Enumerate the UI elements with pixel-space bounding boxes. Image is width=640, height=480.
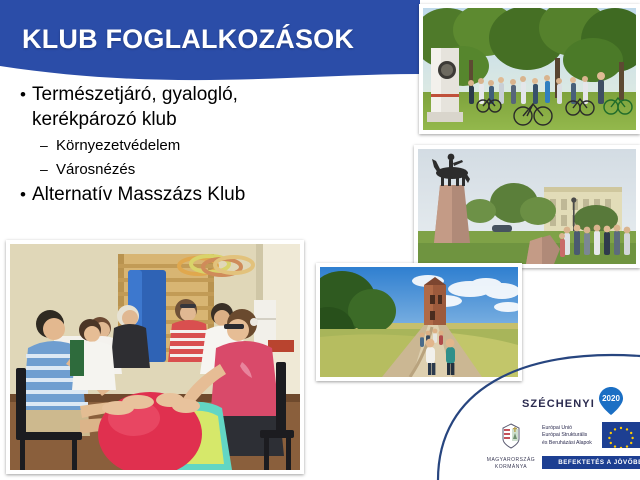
- photo-massage-club-image: [10, 244, 300, 470]
- hungarian-government-logo: MAGYARORSZÁG KORMÁNYA: [482, 422, 540, 471]
- photo-cycling-group-image: [423, 8, 636, 130]
- bullet-marker: •: [14, 82, 32, 107]
- eu-caption: Európai Unió Európai Strukturális és Ber…: [542, 422, 599, 447]
- sub-bullet-marker: –: [40, 134, 56, 157]
- bullet-list: • Természetjáró, gyalogló, kerékpározó k…: [14, 82, 314, 209]
- bullet-line-1: Természetjáró, gyalogló,: [32, 84, 238, 105]
- eu-flag-icon: [602, 422, 640, 453]
- sub-bullet-text: Környezetvédelem: [56, 134, 180, 157]
- photo-equestrian-statue: [414, 145, 640, 268]
- photo-massage-club: [6, 240, 304, 474]
- bullet-line-2: kerékpározó klub: [32, 109, 177, 130]
- szechenyi-2020-logo: SZÉCHENYI 2020: [522, 386, 624, 421]
- logo-block: SZÉCHENYI 2020: [482, 386, 640, 478]
- slide-canvas: KLUB FOGLALKOZÁSOK • Természetjáró, gyal…: [0, 0, 640, 480]
- szechenyi-pin-label: 2020: [602, 394, 620, 403]
- szechenyi-pin-icon: 2020: [598, 386, 624, 421]
- bullet-marker: •: [14, 182, 32, 207]
- sub-bullet-item-sightseeing: – Városnézés: [40, 158, 314, 181]
- bullet-text: Természetjáró, gyalogló, kerékpározó klu…: [32, 82, 238, 132]
- sub-bullet-text: Városnézés: [56, 158, 135, 181]
- hungarian-government-line-1: MAGYARORSZÁG: [482, 457, 540, 464]
- eu-caption-line-2: Európai Strukturális: [542, 432, 599, 439]
- photo-equestrian-statue-image: [418, 149, 636, 264]
- photo-cycling-group: [419, 4, 640, 134]
- investment-slogan-banner: BEFEKTETÉS A JÖVŐBE: [542, 456, 640, 469]
- sub-bullet-item-environment: – Környezetvédelem: [40, 134, 314, 157]
- bullet-item-nature-club: • Természetjáró, gyalogló, kerékpározó k…: [14, 82, 314, 132]
- sub-bullet-marker: –: [40, 158, 56, 181]
- hungarian-government-line-2: KORMÁNYA: [482, 464, 540, 471]
- szechenyi-wordmark: SZÉCHENYI: [522, 398, 595, 410]
- eu-caption-line-3: és Beruházási Alapok: [542, 440, 599, 447]
- funding-logos-row: MAGYARORSZÁG KORMÁNYA Európai Unió Európ…: [482, 422, 640, 471]
- eu-funding-logo: Európai Unió Európai Strukturális és Ber…: [542, 422, 640, 469]
- eu-logo-top: Európai Unió Európai Strukturális és Ber…: [542, 422, 640, 453]
- hungarian-government-caption: MAGYARORSZÁG KORMÁNYA: [482, 457, 540, 471]
- eu-caption-line-1: Európai Unió: [542, 425, 599, 432]
- hungarian-coat-of-arms-icon: [500, 422, 522, 450]
- bullet-text: Alternatív Masszázs Klub: [32, 182, 245, 207]
- page-title: KLUB FOGLALKOZÁSOK: [22, 24, 354, 55]
- bullet-item-massage-club: • Alternatív Masszázs Klub: [14, 182, 314, 207]
